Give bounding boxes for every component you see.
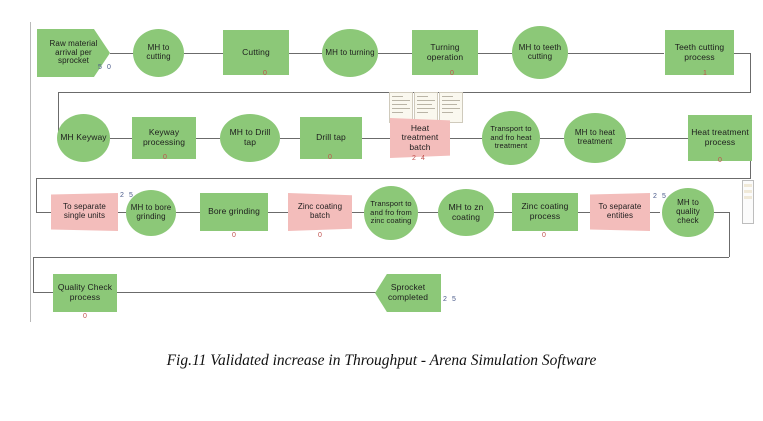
wrap2-in xyxy=(36,212,52,213)
connector-n13-n14 xyxy=(540,138,564,139)
connector-n09-n10 xyxy=(196,138,220,139)
connector-n22-n23 xyxy=(578,212,590,213)
counter-n03: 0 xyxy=(263,70,269,77)
wrap3-in-down xyxy=(33,257,34,292)
connector-n21-n22 xyxy=(494,212,512,213)
node-turning-operation[interactable]: Turning operation xyxy=(412,30,478,75)
wrap3-out xyxy=(714,212,730,213)
node-to-separate-single-units[interactable]: To separate single units xyxy=(51,193,118,231)
arena-simulation-model-diagram: Raw material arrival per sprocket 5 0 MH… xyxy=(0,0,763,421)
connector-n12-n13 xyxy=(450,138,482,139)
node-mh-to-cutting[interactable]: MH to cutting xyxy=(133,29,184,77)
connector-n04-n05 xyxy=(378,53,412,54)
node-mh-to-quality-check[interactable]: MH to quality check xyxy=(662,188,714,237)
node-heat-treatment-process[interactable]: Heat treatment process xyxy=(688,115,752,161)
node-mh-to-heat-treatment[interactable]: MH to heat treatment xyxy=(564,113,626,163)
node-mh-to-zn-coating[interactable]: MH to zn coating xyxy=(438,189,494,236)
wrap2-in-down xyxy=(36,178,37,212)
clipped-offscreen-node[interactable] xyxy=(742,180,754,224)
connector-n17-n18 xyxy=(176,212,200,213)
document-icon xyxy=(414,92,438,123)
connector-n11-n12 xyxy=(362,138,390,139)
node-zinc-coating-process[interactable]: Zinc coating process xyxy=(512,193,578,231)
wrap1-down xyxy=(750,53,751,92)
node-mh-to-teeth-cutting[interactable]: MH to teeth cutting xyxy=(512,26,568,79)
counter-n22: 0 xyxy=(542,232,548,239)
node-teeth-cutting-process[interactable]: Teeth cutting process xyxy=(665,30,734,75)
connector-n20-n21 xyxy=(418,212,438,213)
counter-n01: 5 0 xyxy=(98,64,113,71)
node-cutting[interactable]: Cutting xyxy=(223,30,289,75)
node-bore-grinding[interactable]: Bore grinding xyxy=(200,193,268,231)
node-mh-to-bore-grinding[interactable]: MH to bore grinding xyxy=(126,190,176,236)
counter-n12: 2 4 xyxy=(412,155,427,162)
document-icon xyxy=(439,92,463,123)
node-transport-heat-treatment[interactable]: Transport to and fro heat treatment xyxy=(482,111,540,165)
wrap1-out xyxy=(734,53,751,54)
connector-n08-n09 xyxy=(110,138,132,139)
figure-caption: Fig.11 Validated increase in Throughput … xyxy=(0,352,763,370)
node-keyway-processing[interactable]: Keyway processing xyxy=(132,117,196,159)
wrap2-across xyxy=(36,178,751,179)
node-heat-treatment-batch[interactable]: Heat treatment batch xyxy=(390,118,450,158)
counter-n09: 0 xyxy=(163,154,169,161)
counter-n15: 0 xyxy=(718,157,724,164)
node-mh-keyway[interactable]: MH Keyway xyxy=(57,114,110,162)
node-mh-to-turning[interactable]: MH to turning xyxy=(322,29,378,77)
counter-n11: 0 xyxy=(328,154,334,161)
connector-n16-n17 xyxy=(118,212,126,213)
connector-n03-n04 xyxy=(288,53,322,54)
wrap3-across xyxy=(33,257,729,258)
counter-n05: 0 xyxy=(450,70,456,77)
connector-n25-n26 xyxy=(117,292,381,293)
connector-n06-n07 xyxy=(568,53,664,54)
node-to-separate-entities[interactable]: To separate entities xyxy=(590,193,650,231)
counter-n18: 0 xyxy=(232,232,238,239)
document-stack-icon xyxy=(389,92,463,123)
wrap3-down xyxy=(729,212,730,257)
wrap3-in xyxy=(33,292,53,293)
connector-n18-n19 xyxy=(268,212,288,213)
node-quality-check-process[interactable]: Quality Check process xyxy=(53,274,117,312)
node-drill-tap[interactable]: Drill tap xyxy=(300,117,362,159)
connector-n05-n06 xyxy=(478,53,512,54)
connector-n02-n03 xyxy=(184,53,224,54)
connector-n14-n15 xyxy=(626,138,688,139)
counter-n26: 2 5 xyxy=(443,296,458,303)
node-mh-to-drill-tap[interactable]: MH to Drill tap xyxy=(220,114,280,162)
node-zinc-coating-batch[interactable]: Zinc coating batch xyxy=(288,193,352,231)
connector-n19-n20 xyxy=(352,212,364,213)
canvas-left-rule xyxy=(30,22,31,322)
node-sprocket-completed[interactable]: Sprocket completed xyxy=(375,274,441,312)
connector-n10-n11 xyxy=(280,138,300,139)
connector-n23-n24 xyxy=(650,212,660,213)
node-transport-zinc-coating[interactable]: Transport to and fro from zinc coating xyxy=(364,186,418,240)
counter-n25: 0 xyxy=(83,313,89,320)
counter-n07: 1 xyxy=(703,70,709,77)
counter-n19: 0 xyxy=(318,232,324,239)
